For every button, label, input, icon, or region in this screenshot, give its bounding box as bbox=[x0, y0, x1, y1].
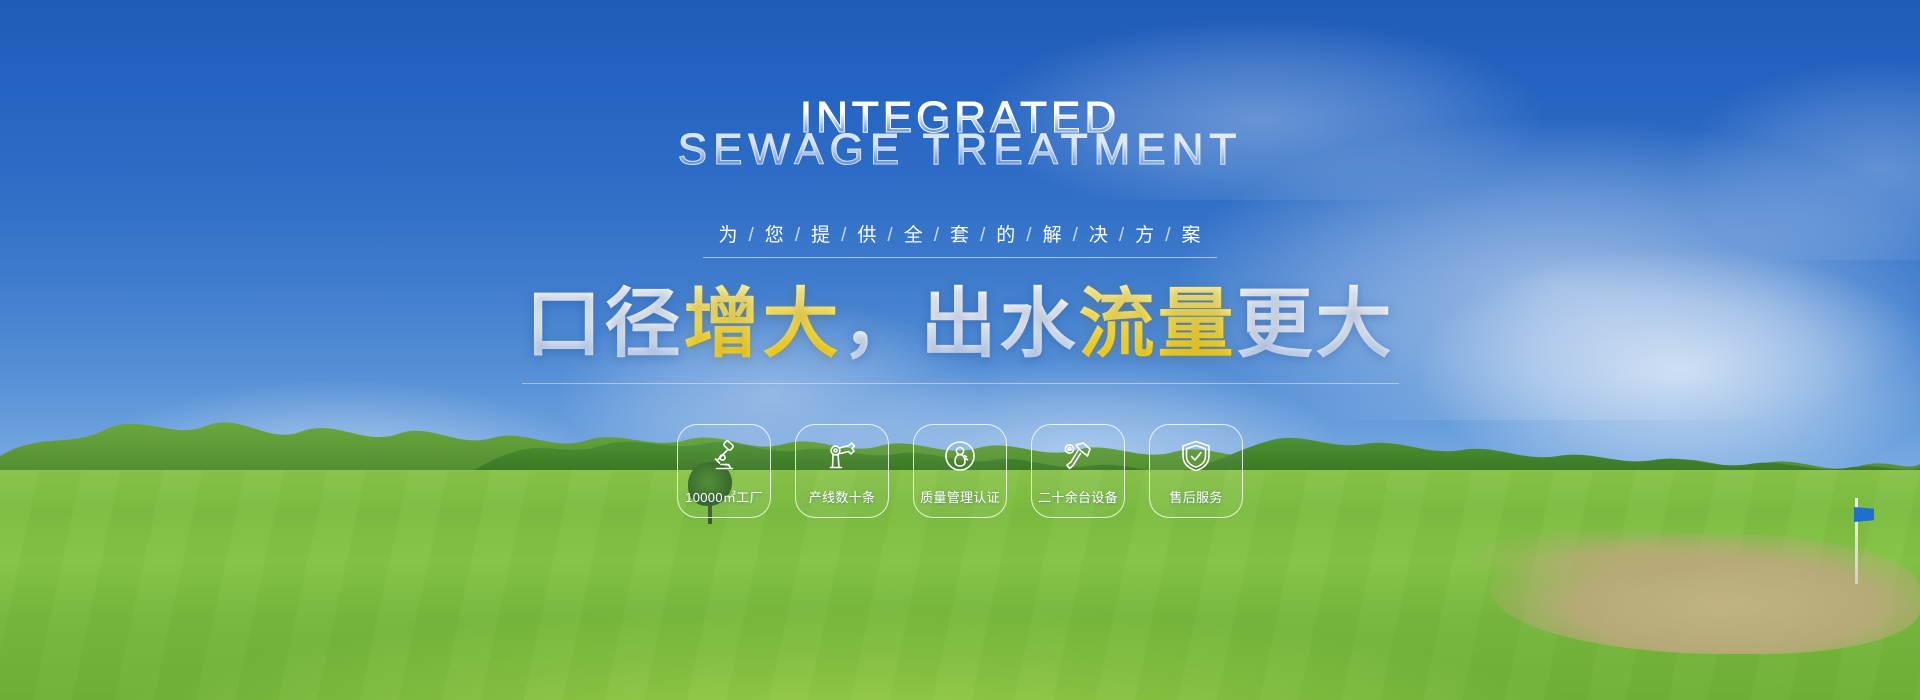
english-title-group: INTEGRATED SEWAGE TREATMENT bbox=[0, 96, 1920, 172]
subtitle-char: 方 bbox=[1135, 225, 1155, 246]
hammer-bolt-icon bbox=[1061, 439, 1095, 473]
feature-badge-label: 10000㎡工厂 bbox=[685, 487, 763, 506]
feature-badge[interactable]: 10000㎡工厂 bbox=[677, 424, 771, 518]
subtitle-separator: / bbox=[934, 225, 940, 246]
subtitle-separator: / bbox=[749, 225, 755, 246]
wrench-bolt-icon bbox=[825, 439, 859, 473]
subtitle-char: 您 bbox=[765, 225, 785, 246]
feature-badge[interactable]: 产线数十条 bbox=[795, 424, 889, 518]
headline-segment: 流量 bbox=[1079, 282, 1237, 367]
subtitle-separator: / bbox=[887, 225, 893, 246]
headline-segment: 增大 bbox=[684, 282, 842, 367]
headline-group: 口径增大，出水流量更大 bbox=[0, 282, 1920, 384]
english-title-line1: INTEGRATED bbox=[0, 96, 1920, 140]
headline-segment: 出水 bbox=[921, 282, 1079, 367]
subtitle-char: 供 bbox=[857, 225, 877, 246]
subtitle-char: 的 bbox=[996, 225, 1016, 246]
headline-segment: ， bbox=[842, 282, 921, 367]
headline-segment: 口径 bbox=[526, 282, 684, 367]
subtitle-char: 决 bbox=[1089, 225, 1109, 246]
feature-badge[interactable]: 二十余台设备 bbox=[1031, 424, 1125, 518]
feature-badge-label: 二十余台设备 bbox=[1038, 487, 1118, 506]
subtitle-char: 为 bbox=[719, 225, 739, 246]
hero-banner: INTEGRATED SEWAGE TREATMENT 为/您/提/供/全/套/… bbox=[0, 0, 1920, 700]
feature-badge-label: 售后服务 bbox=[1169, 487, 1222, 506]
subtitle-separator: / bbox=[1119, 225, 1125, 246]
subtitle-group: 为/您/提/供/全/套/的/解/决/方/案 bbox=[0, 220, 1920, 258]
banner-content: INTEGRATED SEWAGE TREATMENT 为/您/提/供/全/套/… bbox=[0, 0, 1920, 700]
subtitle-char: 案 bbox=[1181, 225, 1201, 246]
subtitle-separator: / bbox=[841, 225, 847, 246]
subtitle-separator: / bbox=[1073, 225, 1079, 246]
feature-badge[interactable]: 售后服务 bbox=[1149, 424, 1243, 518]
feature-badge[interactable]: 质量管理认证 bbox=[913, 424, 1007, 518]
feature-badge-row: 10000㎡工厂产线数十条质量管理认证二十余台设备售后服务 bbox=[0, 424, 1920, 518]
microscope-icon bbox=[707, 439, 741, 473]
headline-segment: 更大 bbox=[1237, 282, 1395, 367]
subtitle-char: 全 bbox=[904, 225, 924, 246]
subtitle-char: 套 bbox=[950, 225, 970, 246]
subtitle-char: 提 bbox=[811, 225, 831, 246]
english-title-line2: SEWAGE TREATMENT bbox=[0, 128, 1920, 172]
certificate-medal-icon bbox=[943, 439, 977, 473]
subtitle-separator: / bbox=[980, 225, 986, 246]
feature-badge-label: 产线数十条 bbox=[809, 487, 876, 506]
subtitle-char: 解 bbox=[1043, 225, 1063, 246]
subtitle-separator: / bbox=[795, 225, 801, 246]
headline: 口径增大，出水流量更大 bbox=[522, 282, 1399, 384]
shield-check-icon bbox=[1179, 439, 1213, 473]
subtitle-separator: / bbox=[1165, 225, 1171, 246]
feature-badge-label: 质量管理认证 bbox=[920, 487, 1000, 506]
subtitle-line: 为/您/提/供/全/套/的/解/决/方/案 bbox=[703, 220, 1218, 258]
subtitle-separator: / bbox=[1026, 225, 1032, 246]
